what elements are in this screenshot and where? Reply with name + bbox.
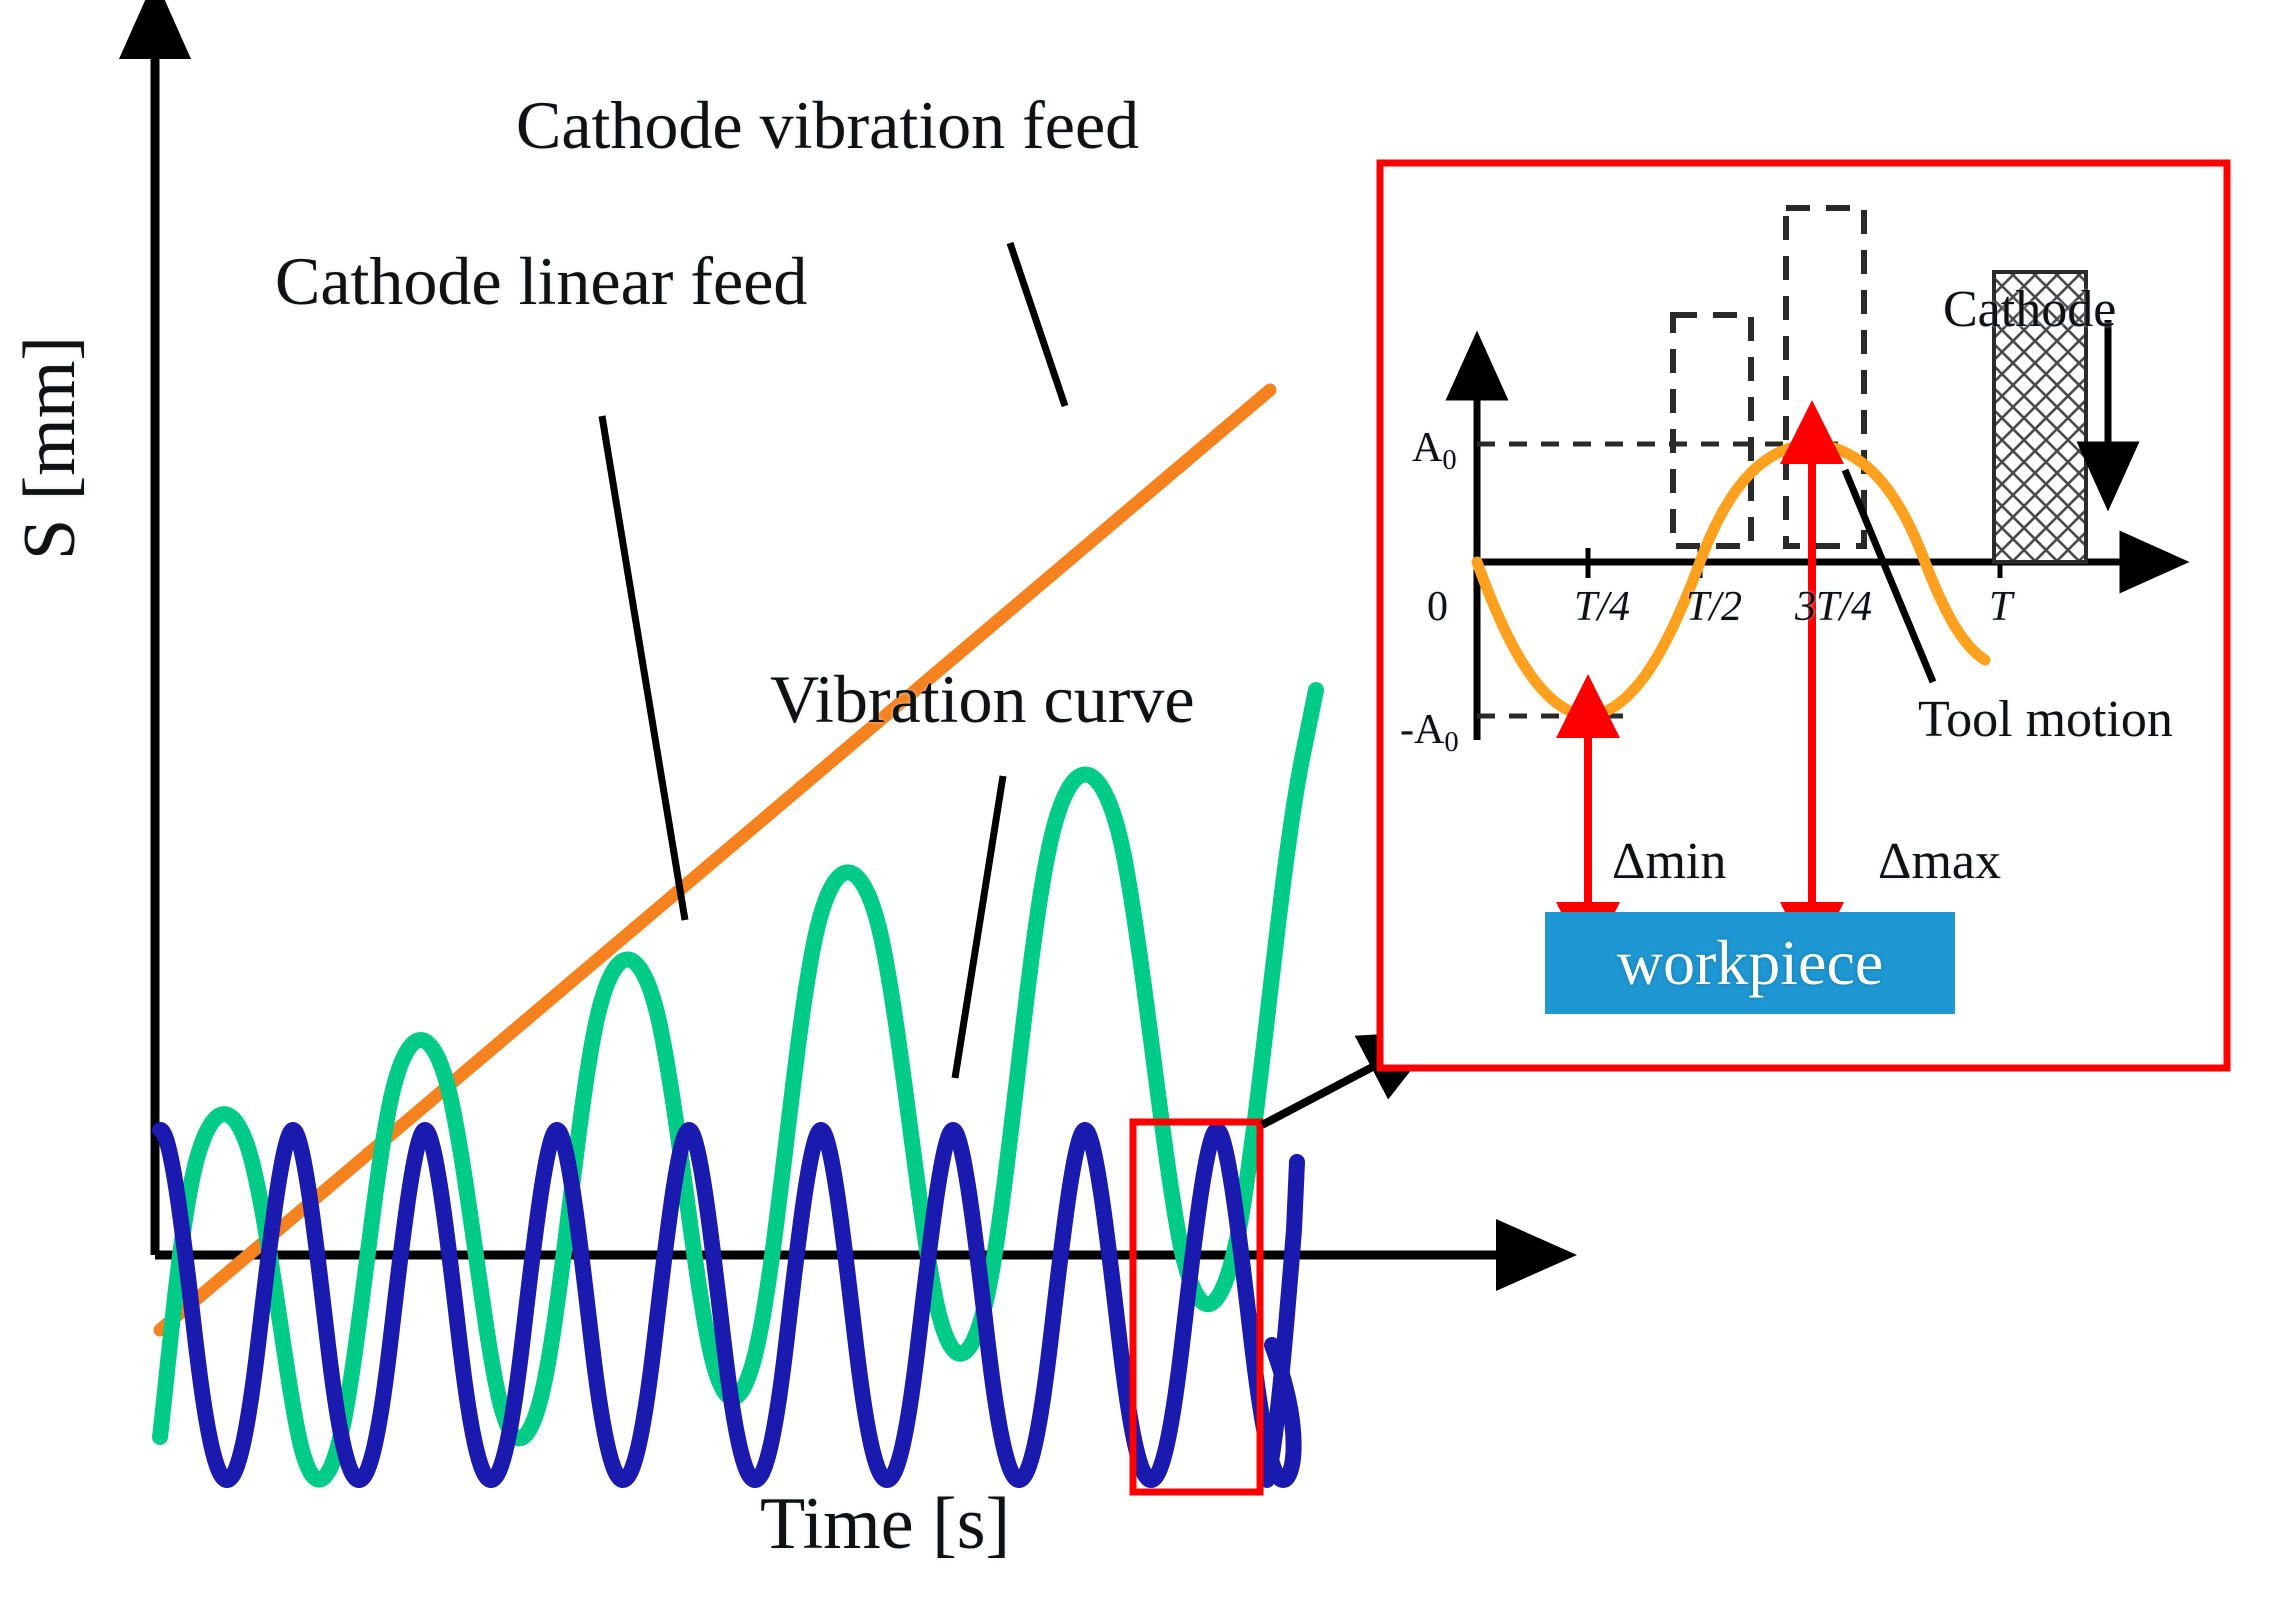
vibration-curve-label: Vibration curve	[770, 660, 1195, 739]
main-axes	[155, 50, 1505, 1255]
inset-neg-a0-text: -A	[1400, 707, 1444, 753]
inset-a0-subscript: 0	[1442, 445, 1456, 476]
figure-root: S [mm] Time [s] Cathode vibration feed C…	[0, 0, 2294, 1611]
inset-amplitude-pos-label: A0	[1412, 424, 1457, 477]
main-x-axis-label: Time [s]	[760, 1482, 1010, 1567]
zoom-callout-leader	[1262, 1062, 1382, 1125]
cathode-label: Cathode	[1943, 280, 2116, 339]
workpiece-label: workpiece	[1545, 912, 1955, 1014]
gap-min-label: Δmin	[1612, 832, 1726, 891]
main-y-axis-label: S [mm]	[8, 336, 93, 560]
vibration-curve-leader	[955, 776, 1003, 1078]
cathode-vibration-feed-label: Cathode vibration feed	[516, 86, 1139, 165]
inset-tick-3t-over-4: 3T/4	[1795, 583, 1872, 631]
inset-neg-a0-subscript: 0	[1444, 727, 1458, 758]
inset-a0-text: A	[1412, 425, 1442, 471]
inset-tick-t: T	[1989, 583, 2012, 631]
inset-tick-t-over-2: T/2	[1686, 583, 1742, 631]
cathode-linear-feed-leader	[602, 416, 685, 920]
inset-origin-label: 0	[1427, 583, 1448, 631]
tool-motion-label: Tool motion	[1918, 690, 2173, 749]
cathode-vibration-feed-leader	[1010, 243, 1065, 406]
inset-tick-t-over-4: T/4	[1574, 583, 1630, 631]
cathode-linear-feed-label: Cathode linear feed	[275, 242, 807, 321]
inset-amplitude-neg-label: -A0	[1400, 706, 1459, 759]
gap-max-label: Δmax	[1878, 832, 2001, 891]
